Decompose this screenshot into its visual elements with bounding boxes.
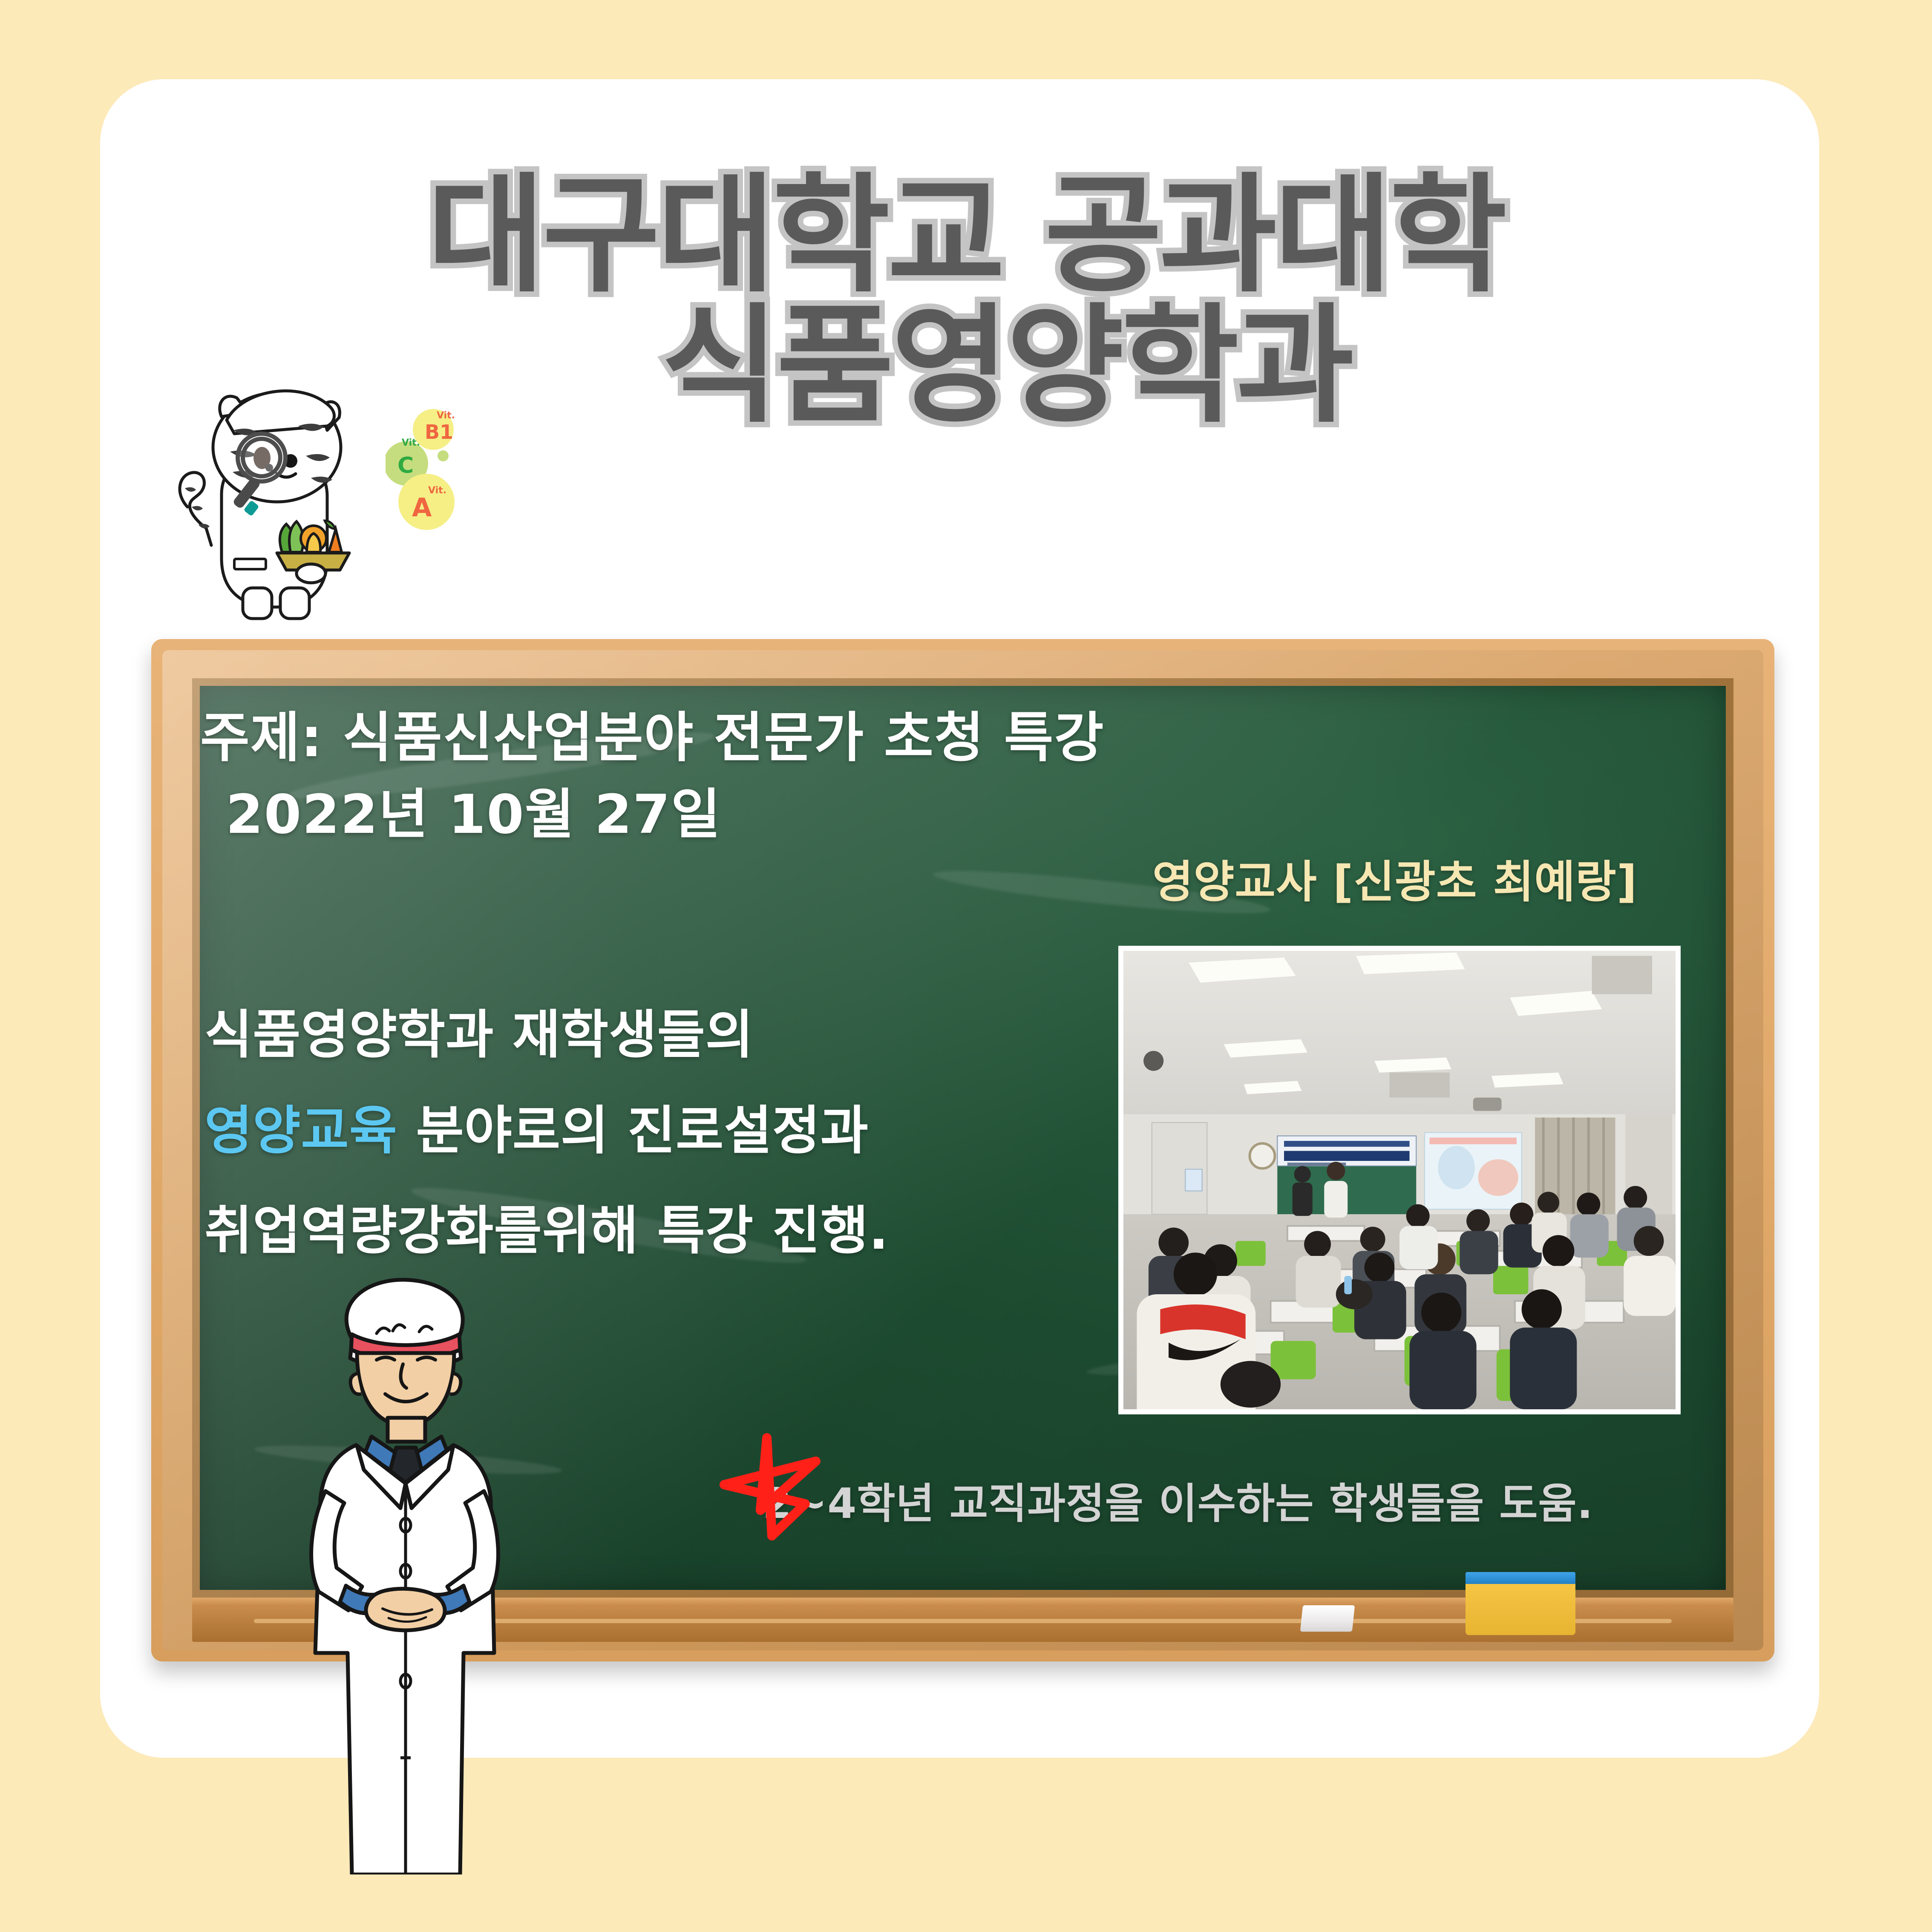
lecture-topic-text: 주제: 식품신산업분야 전문가 초청 특강	[200, 694, 1105, 772]
nutrition-teacher-character	[273, 1270, 537, 1874]
sponge-eraser-icon	[1466, 1572, 1575, 1635]
svg-text:Vit.: Vit.	[437, 410, 455, 421]
vitamin-bubbles-icon: B1 Vit. C Vit. A Vit.	[386, 405, 488, 533]
svg-text:Vit.: Vit.	[428, 485, 446, 496]
body-highlight-nutrition-education: 영양교육	[204, 1100, 397, 1161]
body-line-2-rest: 분야로의 진로설정과	[397, 1100, 869, 1161]
tiger-mascot-icon	[170, 366, 392, 622]
svg-text:C: C	[397, 453, 414, 478]
chalk-stick-icon	[1300, 1605, 1355, 1632]
footnote-text: 2~4학년 교직과정을 이수하는 학생들을 도움.	[763, 1470, 1593, 1530]
speaker-name-text: 영양교사 [신광초 최예랑]	[1152, 846, 1637, 910]
body-line-3: 취업역량강화를위해 특강 진행.	[204, 1189, 889, 1264]
body-line-1: 식품영양학과 재학생들의	[204, 993, 754, 1068]
svg-text:A: A	[412, 493, 432, 523]
lecture-hall-photo	[1118, 946, 1681, 1414]
svg-text:B1: B1	[425, 420, 453, 443]
lecture-date-text: 2022년 10월 27일	[226, 771, 721, 849]
red-star-icon	[707, 1425, 835, 1553]
svg-text:Vit.: Vit.	[402, 438, 420, 448]
body-line-2: 영양교육 분야로의 진로설정과	[204, 1088, 869, 1164]
poster-root: 대구대학교 공과대학 식품영양학과	[0, 0, 1932, 1932]
